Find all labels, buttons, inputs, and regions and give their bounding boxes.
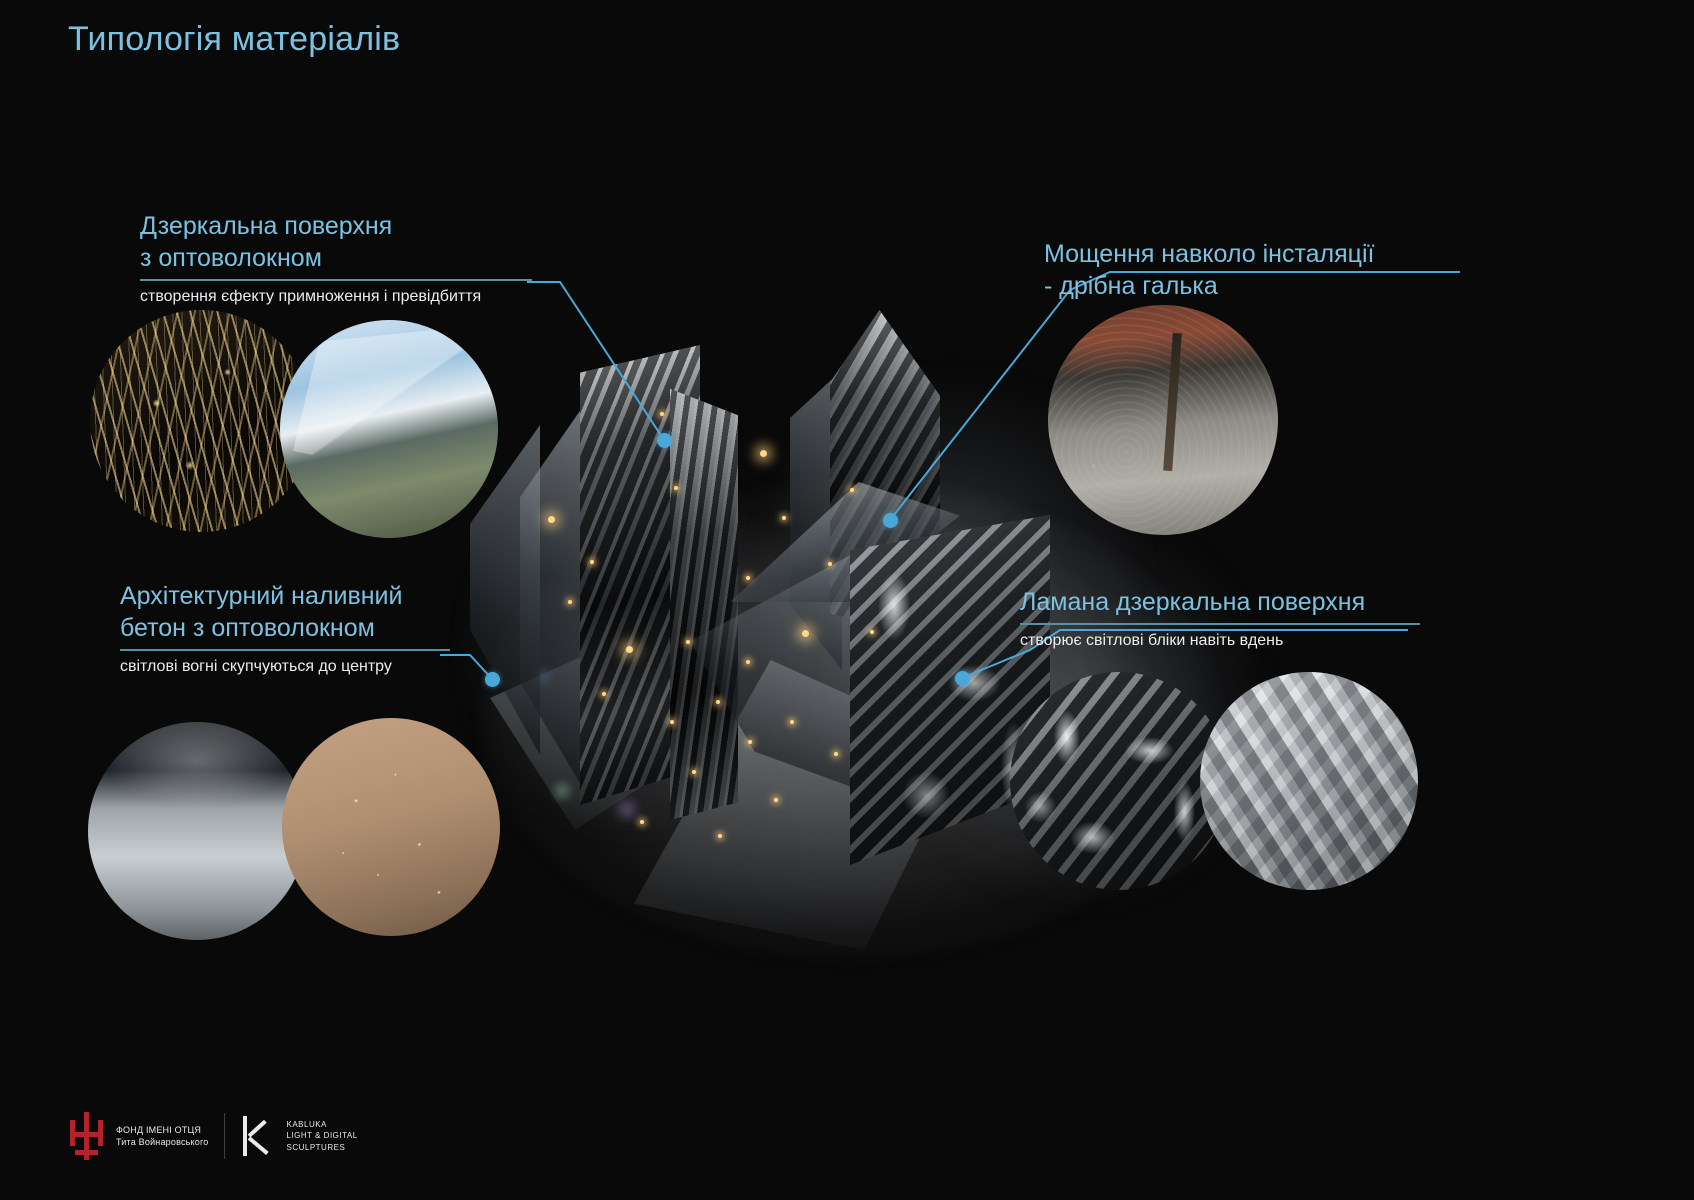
annotation-title: Мощення навколо інсталяції - дрібна галь…	[1044, 238, 1464, 302]
light-spark	[640, 820, 644, 824]
light-spark	[870, 630, 874, 634]
callout-dot-mirror-fiber[interactable]	[657, 433, 672, 448]
light-spark	[834, 752, 838, 756]
light-spark	[746, 660, 750, 664]
light-spark	[692, 770, 696, 774]
annotation-divider	[1020, 623, 1420, 625]
fund-line-1: ФОНД ІМЕНІ ОТЦЯ	[116, 1124, 208, 1136]
annotation-divider	[140, 279, 532, 281]
light-spark	[660, 412, 664, 416]
annotation-description: створює світлові бліки навіть вдень	[1020, 631, 1420, 652]
kabluka-name: KABLUKA LIGHT & DIGITAL SCULPTURES	[286, 1119, 357, 1154]
light-spark	[716, 700, 720, 704]
light-spark	[790, 720, 794, 724]
annotation-description: світлові вогні скупчуються до центру	[120, 657, 450, 678]
annotation-divider	[120, 649, 450, 651]
slide-root: Типологія матеріалів	[0, 0, 1694, 1200]
annotation-paving: Мощення навколо інсталяції - дрібна галь…	[1044, 238, 1464, 302]
photo-liquid-mirror-texture	[1010, 672, 1228, 890]
annotation-title: Ламана дзеркальна поверхня	[1020, 586, 1420, 618]
light-spark	[626, 646, 633, 653]
prism-mirror-column-center	[670, 380, 738, 820]
light-spark	[718, 834, 722, 838]
light-spark	[802, 630, 809, 637]
photo-fiber-optic-concrete	[282, 718, 500, 936]
light-spark	[674, 486, 678, 490]
kabluka-line-2: LIGHT & DIGITAL	[286, 1130, 357, 1142]
annotation-poured-concrete: Архітектурний наливний бетон з оптоволок…	[120, 580, 450, 678]
callout-dot-paving[interactable]	[883, 513, 898, 528]
annotation-title: Архітектурний наливний бетон з оптоволок…	[120, 580, 450, 644]
logo-divider	[224, 1113, 225, 1159]
light-spark	[828, 562, 832, 566]
annotation-title: Дзеркальна поверхня з оптоволокном	[140, 210, 532, 274]
annotation-description: створення єфекту примноження і превідбит…	[140, 287, 532, 308]
light-spark	[850, 488, 854, 492]
photo-faceted-mirror-texture	[1200, 672, 1418, 890]
light-spark	[774, 798, 778, 802]
light-spark	[590, 560, 594, 564]
kabluka-line-3: SCULPTURES	[286, 1142, 357, 1154]
annotation-broken-mirror: Ламана дзеркальна поверхня створює світл…	[1020, 586, 1420, 652]
kabluka-line-1: KABLUKA	[286, 1119, 357, 1131]
light-spark	[748, 740, 752, 744]
fund-line-2: Тита Войнаровського	[116, 1136, 208, 1148]
fund-name: ФОНД ІМЕНІ ОТЦЯ Тита Войнаровського	[116, 1124, 208, 1148]
callout-dot-poured-concrete[interactable]	[485, 672, 500, 687]
light-spark	[548, 516, 555, 523]
photo-gravel-paving	[1048, 305, 1278, 535]
light-spark	[760, 450, 767, 457]
photo-polished-concrete-floor	[88, 722, 306, 940]
light-spark	[602, 692, 606, 696]
footer-logos: ФОНД ІМЕНІ ОТЦЯ Тита Войнаровського KABL…	[66, 1112, 358, 1160]
callout-dot-broken-mirror[interactable]	[955, 671, 970, 686]
light-spark	[670, 720, 674, 724]
kabluka-k-icon	[241, 1114, 277, 1158]
light-spark	[686, 640, 690, 644]
light-spark	[746, 576, 750, 580]
photo-fiber-optic-strands	[90, 310, 312, 532]
fund-trident-icon	[66, 1112, 106, 1160]
photo-mirror-sky-panel	[280, 320, 498, 538]
light-spark	[782, 516, 786, 520]
logo-fund: ФОНД ІМЕНІ ОТЦЯ Тита Войнаровського	[66, 1112, 208, 1160]
logo-kabluka: KABLUKA LIGHT & DIGITAL SCULPTURES	[241, 1114, 357, 1158]
light-spark	[568, 600, 572, 604]
annotation-mirror-fiber: Дзеркальна поверхня з оптоволокном створ…	[140, 210, 532, 308]
page-title: Типологія матеріалів	[68, 20, 400, 59]
